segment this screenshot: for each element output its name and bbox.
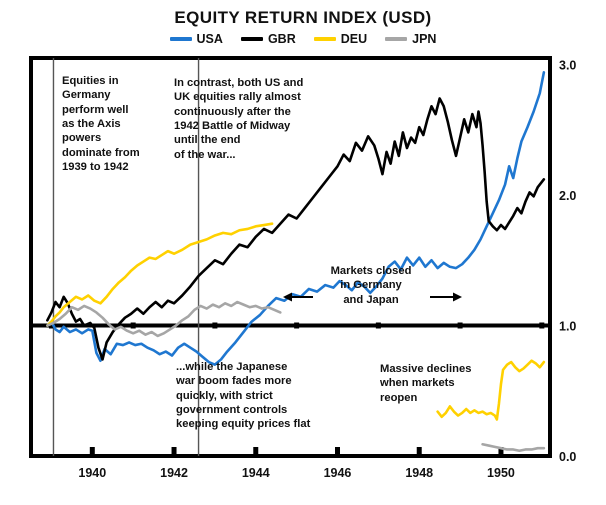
annotation-japan-war-boom: ...while the Japanese war boom fades mor… bbox=[176, 360, 336, 432]
y-tick-label-0.0: 0.0 bbox=[559, 450, 576, 464]
annotation-germany-axis: Equities in Germany perform well as the … bbox=[62, 74, 162, 174]
arrow-left-markets-closed bbox=[283, 293, 313, 302]
annotation-markets-closed: Markets closed in Germany and Japan bbox=[318, 264, 424, 307]
x-tick-label-1944: 1944 bbox=[242, 466, 270, 480]
x-tick-label-1942: 1942 bbox=[160, 466, 188, 480]
series-line-deu-pre-closure bbox=[47, 224, 272, 326]
x-tick-label-1940: 1940 bbox=[78, 466, 106, 480]
x-tick-label-1950: 1950 bbox=[487, 466, 515, 480]
y-tick-label-2.0: 2.0 bbox=[559, 189, 576, 203]
y-tick-label-1.0: 1.0 bbox=[559, 320, 576, 334]
arrow-right-markets-closed bbox=[430, 293, 462, 302]
x-tick-label-1946: 1946 bbox=[324, 466, 352, 480]
y-tick-label-3.0: 3.0 bbox=[559, 59, 576, 73]
x-tick-label-1948: 1948 bbox=[405, 466, 433, 480]
chart-figure: EQUITY RETURN INDEX (USD) USA GBR DEU JP… bbox=[0, 0, 606, 505]
annotation-us-uk-rally: In contrast, both US and UK equities ral… bbox=[174, 76, 336, 162]
series-line-jpn-post-reopen bbox=[483, 444, 544, 451]
annotation-massive-declines: Massive declines when markets reopen bbox=[380, 362, 500, 405]
